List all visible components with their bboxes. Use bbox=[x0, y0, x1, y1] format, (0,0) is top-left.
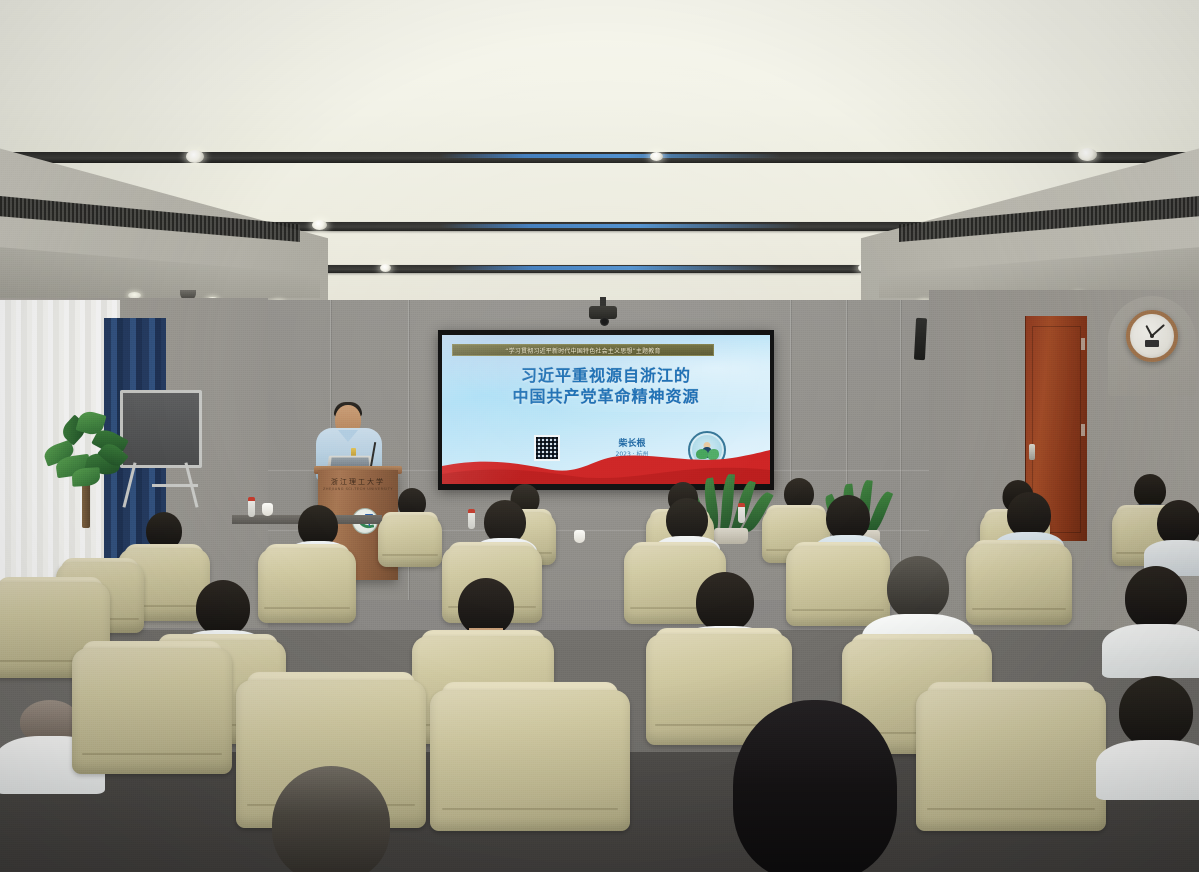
wall-panel-seam bbox=[900, 300, 901, 600]
bottle-cap bbox=[468, 509, 475, 513]
bottle-cap bbox=[738, 503, 745, 507]
water-bottle bbox=[738, 506, 745, 523]
wall-mounted-speaker bbox=[914, 318, 927, 361]
ceiling-spotlight bbox=[312, 220, 327, 230]
attendee-head bbox=[696, 572, 754, 632]
tea-cup bbox=[262, 503, 273, 516]
attendee-shoulders bbox=[1096, 740, 1199, 800]
podium-institution-name-en: ZHEJIANG SCI-TECH UNIVERSITY bbox=[318, 487, 398, 491]
water-bottle bbox=[248, 500, 255, 517]
chair-seam bbox=[442, 808, 618, 810]
plant-pot bbox=[714, 528, 748, 544]
ceiling-rail-sheen-1 bbox=[440, 154, 780, 158]
ceiling-spotlight bbox=[380, 264, 391, 272]
ceiling-luminous-panel-outer bbox=[0, 0, 1199, 160]
attendee bbox=[1118, 566, 1194, 658]
conference-chair bbox=[72, 648, 232, 818]
camera-lens-icon bbox=[600, 317, 609, 326]
door-handle[interactable] bbox=[1029, 444, 1035, 460]
chair-seam bbox=[792, 609, 884, 611]
conference-chair bbox=[378, 515, 442, 585]
bottle-cap bbox=[248, 497, 255, 501]
clock-hub bbox=[1150, 334, 1154, 338]
chair-seam bbox=[264, 607, 350, 609]
slide-title: 习近平重视源自浙江的 中国共产党革命精神资源 bbox=[442, 365, 770, 407]
slide-title-line-1: 习近平重视源自浙江的 bbox=[442, 365, 770, 386]
ceiling-spotlight bbox=[186, 150, 204, 163]
potted-plant-left bbox=[42, 410, 134, 528]
conference-chair bbox=[966, 544, 1072, 654]
attendee bbox=[1106, 676, 1199, 796]
chair-seam bbox=[927, 808, 1094, 810]
chair-back bbox=[258, 548, 356, 623]
water-bottle bbox=[468, 512, 475, 529]
plant-leaf bbox=[72, 467, 101, 486]
chair-back bbox=[966, 544, 1072, 625]
door-hinge bbox=[1081, 338, 1085, 350]
attendee-shoulders bbox=[1102, 624, 1199, 678]
attendee-foreground bbox=[730, 700, 900, 872]
conference-chair bbox=[916, 690, 1106, 872]
projection-screen-frame: “学习贯彻习近平新时代中国特色社会主义思想”主题教育 习近平重视源自浙江的 中国… bbox=[438, 330, 774, 490]
attendee-head bbox=[196, 580, 250, 636]
attendee-foreground bbox=[268, 766, 394, 872]
easel-crossbar bbox=[152, 484, 198, 487]
attendee-head bbox=[1119, 676, 1193, 748]
conference-chair bbox=[430, 690, 630, 872]
chair-back bbox=[378, 515, 442, 567]
ceiling-spotlight bbox=[650, 152, 663, 161]
attendee-head bbox=[1125, 566, 1187, 630]
attendee-head bbox=[733, 700, 897, 872]
chair-seam bbox=[382, 554, 438, 556]
chair-back bbox=[786, 546, 890, 626]
tea-cup bbox=[574, 530, 585, 543]
slide-title-line-2: 中国共产党革命精神资源 bbox=[442, 386, 770, 407]
wall-clock bbox=[1126, 310, 1178, 362]
attendee bbox=[1150, 500, 1199, 568]
attendee-head bbox=[272, 766, 390, 872]
door-hinge bbox=[1081, 424, 1085, 436]
ceiling-rail-sheen-3 bbox=[450, 266, 780, 270]
slide-campaign-banner: “学习贯彻习近平新时代中国特色社会主义思想”主题教育 bbox=[452, 344, 714, 356]
conference-hall-photo: “学习贯彻习近平新时代中国特色社会主义思想”主题教育 习近平重视源自浙江的 中国… bbox=[0, 0, 1199, 872]
podium-institution-name: 浙江理工大学 bbox=[318, 477, 398, 487]
clock-date-window bbox=[1145, 340, 1159, 347]
conference-chair bbox=[258, 548, 356, 650]
ceiling-rail-sheen-2 bbox=[440, 224, 800, 228]
projection-screen: “学习贯彻习近平新时代中国特色社会主义思想”主题教育 习近平重视源自浙江的 中国… bbox=[442, 335, 770, 484]
ceiling-spotlight bbox=[1078, 148, 1097, 161]
attendee-head bbox=[887, 556, 949, 620]
chair-seam bbox=[972, 608, 1065, 610]
